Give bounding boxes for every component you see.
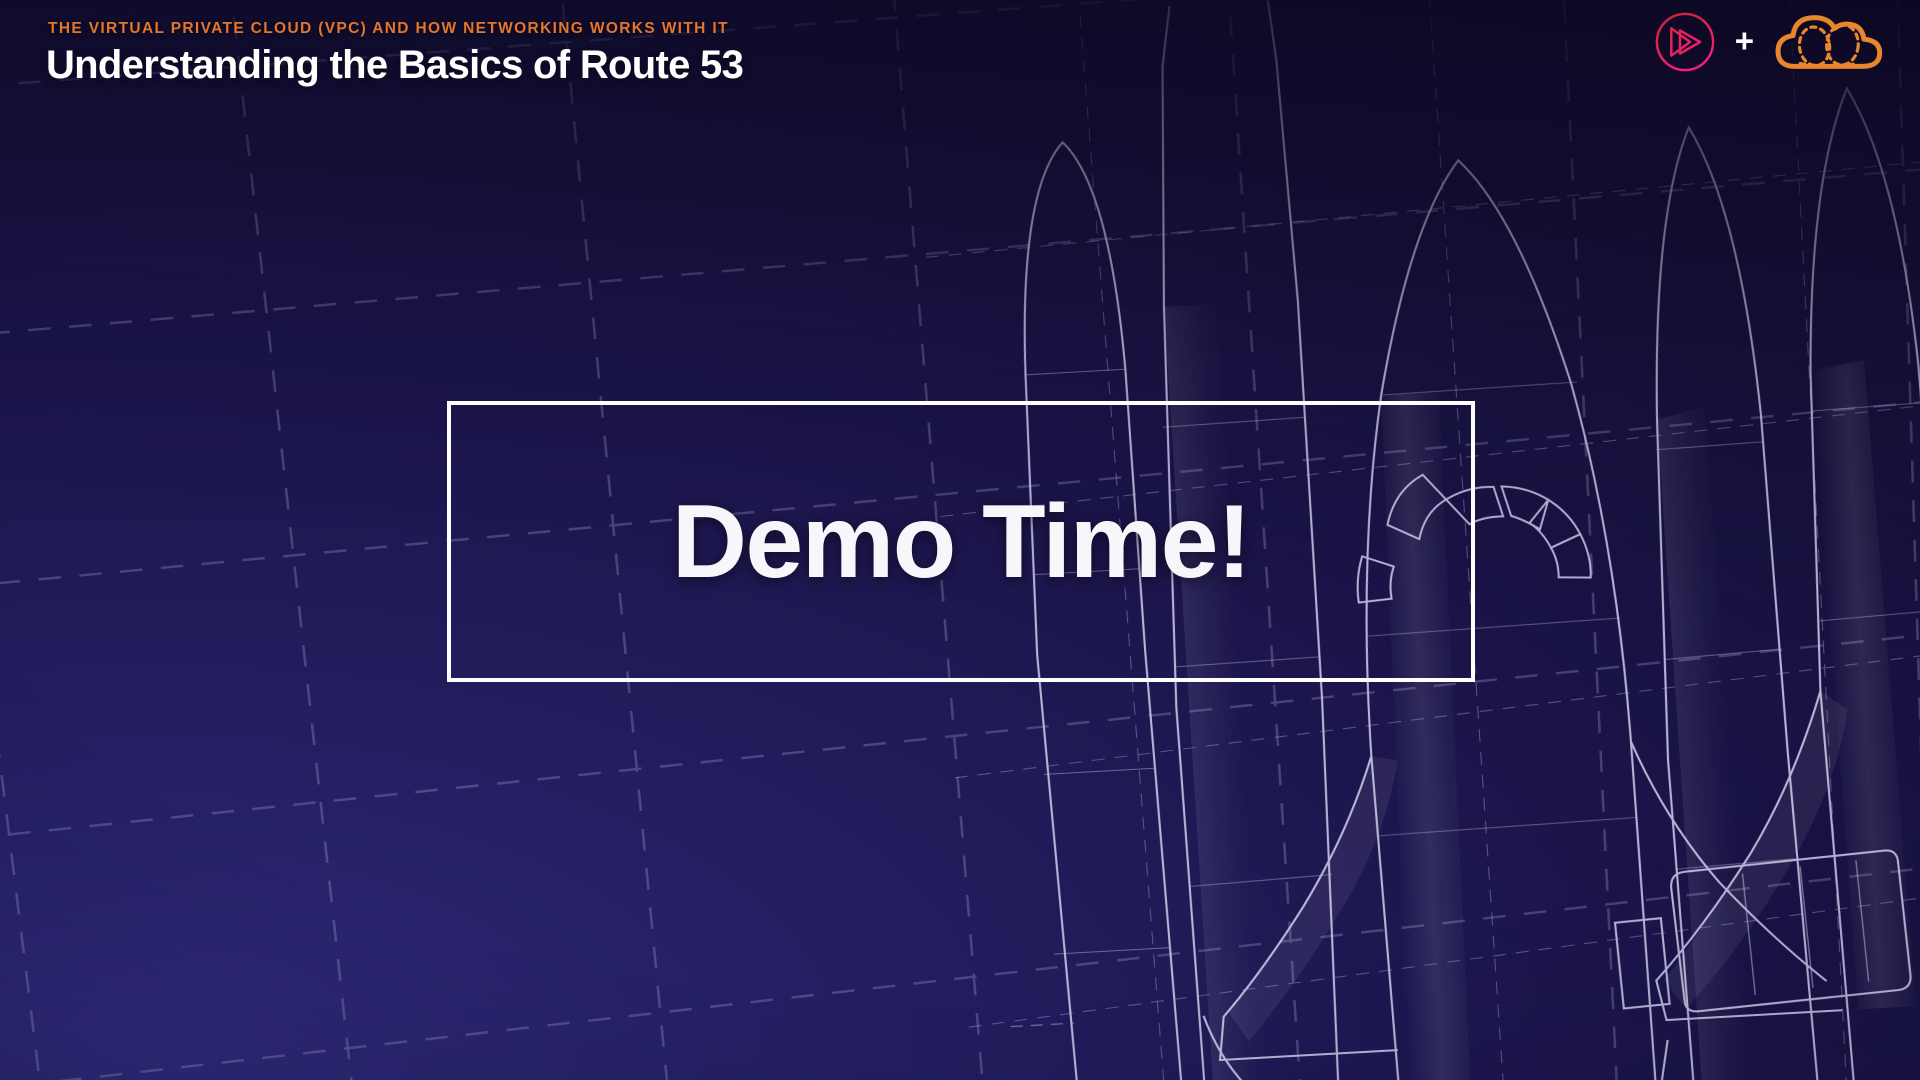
slide-header: The Virtual Private Cloud (VPC) and How … <box>46 20 743 88</box>
slide-eyebrow: The Virtual Private Cloud (VPC) and How … <box>48 20 743 38</box>
brand-lockup: + <box>1649 6 1894 78</box>
presentation-slide: The Virtual Private Cloud (VPC) and How … <box>0 0 1920 1080</box>
demo-callout-box: Demo Time! <box>447 401 1475 682</box>
demo-callout-text: Demo Time! <box>672 490 1250 594</box>
plus-separator: + <box>1735 24 1754 61</box>
a-cloud-guru-cloud-logo <box>1768 6 1894 78</box>
page-title: Understanding the Basics of Route 53 <box>46 43 743 88</box>
pluralsight-play-logo <box>1649 6 1721 78</box>
